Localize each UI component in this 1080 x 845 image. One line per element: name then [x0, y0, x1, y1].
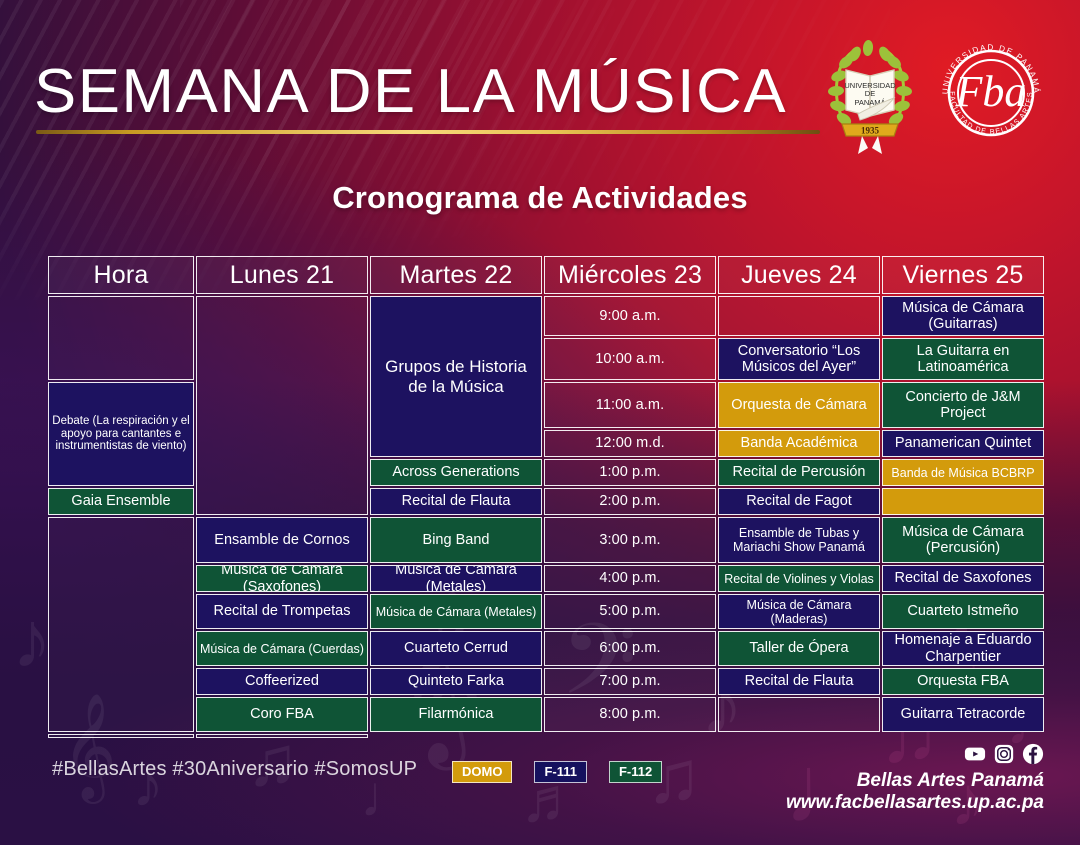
event-lunes-banda-academica[interactable]: Banda Académica — [718, 430, 880, 457]
hour-label-1600: 4:00 p.m. — [544, 565, 716, 592]
event-vie-metales-1[interactable]: Música de Cámara (Metales) — [370, 565, 542, 592]
event-mie-orquesta-fba[interactable]: Orquesta FBA — [882, 668, 1044, 695]
hashtags-text: #BellasArtes #30Aniversario #SomosUP — [52, 758, 417, 781]
legend-chip-f111: F-111 — [534, 761, 587, 783]
social-links — [964, 743, 1044, 765]
event-jue-trompetas[interactable]: Recital de Trompetas — [196, 594, 368, 629]
event-jue-cuerdas[interactable]: Música de Cámara (Cuerdas) — [196, 631, 368, 666]
event-mie-istmeno[interactable]: Cuarteto Istmeño — [882, 594, 1044, 629]
hour-label-0900: 9:00 a.m. — [544, 296, 716, 336]
youtube-icon[interactable] — [964, 743, 986, 765]
event-vie-filarmonica[interactable]: Filarmónica — [370, 697, 542, 732]
universidad-de-panama-crest-logo: UNIVERSIDAD DE PANAMÁ 1935 — [824, 36, 916, 158]
hour-label-1800: 6:00 p.m. — [544, 631, 716, 666]
column-header-jueves: Jueves 24 — [718, 256, 880, 294]
instagram-icon[interactable] — [993, 743, 1015, 765]
hour-label-2000: 8:00 p.m. — [544, 697, 716, 732]
hour-label-1200: 12:00 m.d. — [544, 430, 716, 457]
poster-header: SEMANA DE LA MÚSICA Cronograma de Activi… — [0, 0, 1080, 250]
crest-year: 1935 — [861, 126, 880, 136]
column-header-lunes: Lunes 21 — [196, 256, 368, 294]
schedule-table: Hora Lunes 21 Martes 22 Miércoles 23 Jue… — [48, 256, 1034, 720]
cell-martes-lower-empty — [48, 517, 194, 732]
hour-label-1500: 3:00 p.m. — [544, 517, 716, 563]
hour-label-1300: 1:00 p.m. — [544, 459, 716, 486]
event-mie-panamerican[interactable]: Panamerican Quintet — [882, 430, 1044, 457]
column-header-viernes: Viernes 25 — [882, 256, 1044, 294]
event-mie-conversatorio[interactable]: Conversatorio “Los Músicos del Ayer” — [718, 338, 880, 380]
event-jue-guitarras[interactable]: Música de Cámara (Guitarras) — [882, 296, 1044, 336]
page-title: SEMANA DE LA MÚSICA — [34, 56, 787, 127]
website-url-text[interactable]: www.facbellasartes.up.ac.pa — [786, 790, 1044, 816]
event-vie-bing-band[interactable]: Bing Band — [370, 517, 542, 563]
column-header-martes: Martes 22 — [370, 256, 542, 294]
event-jue-saxofones[interactable]: Música de Cámara (Saxofones) — [196, 565, 368, 592]
event-vie-grupos[interactable]: Grupos de Historia de la Música — [370, 296, 542, 457]
event-vie-metales-2[interactable]: Música de Cámara (Metales) — [370, 594, 542, 629]
hour-label-1400: 2:00 p.m. — [544, 488, 716, 515]
cell-viernes-2000 — [196, 734, 368, 738]
hour-label-1700: 5:00 p.m. — [544, 594, 716, 629]
cell-martes-empty — [196, 296, 368, 515]
cell-miercoles-0900 — [718, 296, 880, 336]
event-jue-coffeerized[interactable]: Coffeerized — [196, 668, 368, 695]
crest-line-2: DE — [865, 89, 875, 98]
event-jue-coro-fba[interactable]: Coro FBA — [196, 697, 368, 732]
hour-label-1900: 7:00 p.m. — [544, 668, 716, 695]
column-header-hora: Hora — [48, 256, 194, 294]
event-lunes-flauta[interactable]: Recital de Flauta — [718, 668, 880, 695]
event-lunes-opera[interactable]: Taller de Ópera — [718, 631, 880, 666]
cell-jueves-2000 — [48, 734, 194, 738]
event-jue-percusion[interactable]: Recital de Percusión — [718, 459, 880, 486]
hour-label-1100: 11:00 a.m. — [544, 382, 716, 428]
event-mie-homenaje[interactable]: Homenaje a Eduardo Charpentier — [882, 631, 1044, 666]
cell-lunes-0900 — [48, 296, 194, 380]
column-header-miercoles: Miércoles 23 — [544, 256, 716, 294]
event-lunes-orquesta[interactable]: Orquesta de Cámara — [718, 382, 880, 428]
event-mie-saxofones[interactable]: Recital de Saxofones — [882, 565, 1044, 592]
event-jue-latinoamerica[interactable]: La Guitarra en Latinoamérica — [882, 338, 1044, 380]
gold-divider — [36, 130, 820, 134]
event-vie-flauta[interactable]: Recital de Flauta — [370, 488, 542, 515]
event-mie-cornos[interactable]: Ensamble de Cornos — [196, 517, 368, 563]
event-lunes-violines[interactable]: Recital de Violines y Violas — [718, 565, 880, 592]
hour-label-1000: 10:00 a.m. — [544, 338, 716, 380]
svg-text:Fba: Fba — [955, 67, 1027, 116]
event-mie-percusion[interactable]: Música de Cámara (Percusión) — [882, 517, 1044, 563]
event-mie-jm[interactable]: Concierto de J&M Project — [882, 382, 1044, 428]
facultad-de-bellas-artes-seal-logo: UNIVERSIDAD DE PANAMÁ FACULTAD DE BELLAS… — [930, 32, 1052, 154]
legend-chip-f112: F-112 — [609, 761, 662, 783]
event-lunes-tubas[interactable]: Ensamble de Tubas y Mariachi Show Panamá — [718, 517, 880, 563]
legend-chip-domo: DOMO — [452, 761, 512, 783]
event-lunes-banda-bcbrp[interactable]: Banda de Música BCBRP — [882, 459, 1044, 486]
event-vie-farka[interactable]: Quinteto Farka — [370, 668, 542, 695]
venue-legend: DOMO F-111 F-112 — [452, 761, 662, 783]
event-lunes-maderas[interactable]: Música de Cámara (Maderas) — [718, 594, 880, 629]
event-vie-across[interactable]: Across Generations — [370, 459, 542, 486]
facebook-icon[interactable] — [1022, 743, 1044, 765]
event-mie-gaia[interactable]: Gaia Ensemble — [48, 488, 194, 515]
page-subtitle: Cronograma de Actividades — [0, 180, 1080, 216]
event-mie-tetracorde[interactable]: Guitarra Tetracorde — [882, 697, 1044, 732]
cell-lunes-gold-filler[interactable] — [882, 488, 1044, 515]
poster-footer: #BellasArtes #30Aniversario #SomosUP DOM… — [0, 740, 1080, 845]
event-vie-cerrud[interactable]: Cuarteto Cerrud — [370, 631, 542, 666]
event-jue-debate[interactable]: Debate (La respiración y el apoyo para c… — [48, 382, 194, 486]
cell-lunes-2000 — [718, 697, 880, 732]
event-jue-fagot[interactable]: Recital de Fagot — [718, 488, 880, 515]
